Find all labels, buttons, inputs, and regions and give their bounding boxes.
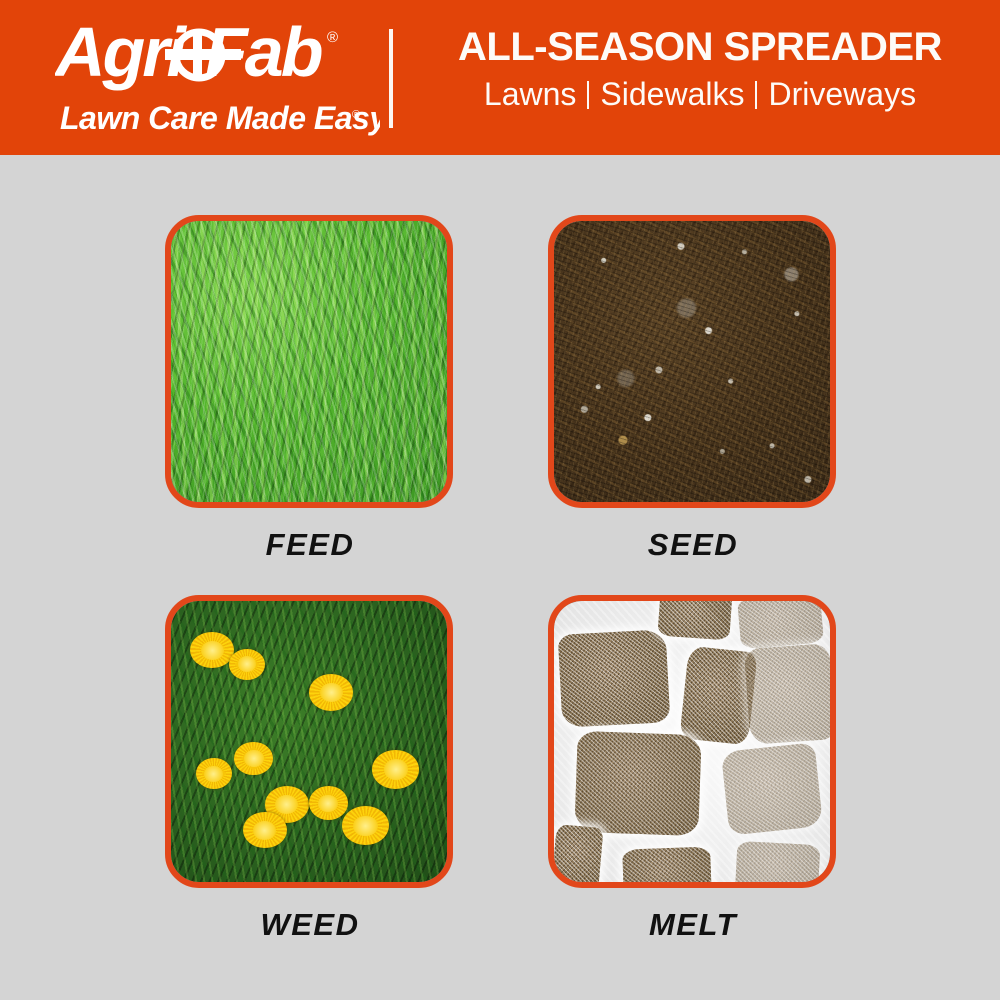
dandelion-flower-icon xyxy=(309,674,353,711)
paver-stone xyxy=(557,629,669,727)
dandelion-weeds-in-lawn-photo xyxy=(171,601,447,882)
paver-stone xyxy=(574,731,702,836)
feature-tile-label-seed: SEED xyxy=(548,527,838,563)
brand-tagline: Lawn Care Made Easy ® xyxy=(60,98,380,138)
svg-text:®: ® xyxy=(327,29,338,46)
dandelion-flower-icon xyxy=(309,786,348,820)
feature-tile-seed[interactable]: SEED xyxy=(548,215,838,563)
svg-text:Lawn Care Made Easy: Lawn Care Made Easy xyxy=(60,100,380,136)
header-subtitle: LawnsSidewalksDriveways xyxy=(420,72,980,116)
dandelion-flower-icon xyxy=(190,632,234,669)
feature-tile-weed[interactable]: WEED xyxy=(165,595,455,943)
dandelion-flower-icon xyxy=(372,750,419,789)
brand-header-banner: Agri Fab ® Lawn Care Made Easy ® ALL-SEA… xyxy=(0,0,1000,155)
feature-tile-grid: FEED SEED WEED xyxy=(0,155,1000,1000)
paver-stone xyxy=(622,847,712,882)
green-grass-lawn-photo xyxy=(171,221,447,502)
seed-photo-frame[interactable] xyxy=(548,215,836,508)
feature-tile-label-feed: FEED xyxy=(165,527,455,563)
paver-stone xyxy=(735,841,821,882)
dandelion-flower-icon xyxy=(229,649,265,680)
paver-stone xyxy=(744,643,830,744)
dandelion-flower-icon xyxy=(342,806,389,845)
feature-tile-label-melt: MELT xyxy=(548,907,838,943)
weed-photo-frame[interactable] xyxy=(165,595,453,888)
dandelion-flower-icon xyxy=(243,812,287,849)
paver-stone xyxy=(737,601,824,649)
header-subtitle-sidewalks: Sidewalks xyxy=(600,76,744,112)
feed-photo-frame[interactable] xyxy=(165,215,453,508)
feature-tile-label-weed: WEED xyxy=(165,907,455,943)
dandelion-flower-icon xyxy=(196,758,232,789)
feature-tile-feed[interactable]: FEED xyxy=(165,215,455,563)
header-subtitle-lawns: Lawns xyxy=(484,76,577,112)
header-title: ALL-SEASON SPREADER xyxy=(420,22,980,72)
subtitle-separator-1-icon xyxy=(587,81,589,109)
snow-covered-cobblestone-pavers-photo xyxy=(554,601,830,882)
svg-text:®: ® xyxy=(352,109,360,121)
header-text-block: ALL-SEASON SPREADER LawnsSidewalksDrivew… xyxy=(420,22,980,116)
dandelion-flower-icon xyxy=(234,742,273,776)
feature-tile-melt[interactable]: MELT xyxy=(548,595,838,943)
agri-fab-wordmark: Agri Fab ® xyxy=(55,16,375,92)
brand-logo: Agri Fab ® Lawn Care Made Easy ® xyxy=(55,16,375,140)
vertical-divider-icon xyxy=(389,29,393,128)
paver-stone xyxy=(554,824,604,882)
subtitle-separator-2-icon xyxy=(755,81,757,109)
melt-photo-frame[interactable] xyxy=(548,595,836,888)
dark-soil-with-seed-photo xyxy=(554,221,830,502)
paver-stone xyxy=(721,742,823,836)
paver-stone xyxy=(657,601,732,640)
header-subtitle-driveways: Driveways xyxy=(768,76,916,112)
